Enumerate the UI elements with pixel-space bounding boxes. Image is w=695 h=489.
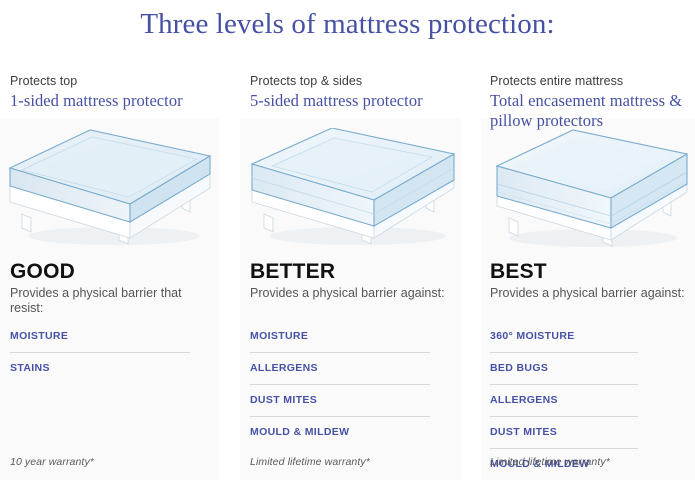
column-subtitle: Protects top (10, 73, 215, 89)
mattress-5-sided-illustration (246, 128, 460, 253)
feature-item: ALLERGENS (490, 394, 638, 417)
feature-item: MOULD & MILDEW (250, 426, 430, 448)
column-product-name: 5-sided mattress protector (250, 91, 457, 111)
rating-description: Provides a physical barrier that resist: (10, 286, 206, 316)
warranty-note: Limited lifetime warranty* (250, 456, 370, 468)
protection-column-good: Protects top 1-sided mattress protector (0, 0, 219, 480)
mattress-1-sided-illustration (4, 128, 216, 253)
rating-description: Provides a physical barrier against: (250, 286, 446, 301)
feature-item: MOISTURE (250, 330, 430, 353)
warranty-note: 10 year warranty* (10, 456, 94, 468)
rating-description: Provides a physical barrier against: (490, 286, 686, 301)
column-header: Protects top 1-sided mattress protector (10, 73, 215, 111)
mattress-total-encasement-illustration (487, 128, 694, 253)
rating-block: GOOD Provides a physical barrier that re… (10, 260, 211, 316)
column-product-name: 1-sided mattress protector (10, 91, 215, 111)
rating-block: BEST Provides a physical barrier against… (490, 260, 687, 301)
feature-item: DUST MITES (250, 394, 430, 417)
feature-list: MOISTURE ALLERGENS DUST MITES MOULD & MI… (250, 330, 430, 457)
feature-item: 360° MOISTURE (490, 330, 638, 353)
column-product-name: Total encasement mattress & pillow prote… (490, 91, 691, 131)
rating-label: GOOD (10, 260, 211, 283)
feature-item: STAINS (10, 362, 190, 384)
column-subtitle: Protects top & sides (250, 73, 457, 89)
protection-column-best: Protects entire mattress Total encasemen… (481, 0, 695, 480)
protection-column-better: Protects top & sides 5-sided mattress pr… (240, 0, 461, 480)
column-header: Protects entire mattress Total encasemen… (490, 73, 691, 131)
rating-block: BETTER Provides a physical barrier again… (250, 260, 453, 301)
rating-label: BEST (490, 260, 687, 283)
comparison-columns: Protects top 1-sided mattress protector (0, 0, 695, 480)
feature-list: MOISTURE STAINS (10, 330, 190, 393)
rating-label: BETTER (250, 260, 453, 283)
feature-item: MOISTURE (10, 330, 190, 353)
warranty-note: Limited lifetime warranty* (490, 456, 610, 468)
feature-item: BED BUGS (490, 362, 638, 385)
column-header: Protects top & sides 5-sided mattress pr… (250, 73, 457, 111)
feature-item: DUST MITES (490, 426, 638, 449)
feature-item: ALLERGENS (250, 362, 430, 385)
column-subtitle: Protects entire mattress (490, 73, 691, 89)
